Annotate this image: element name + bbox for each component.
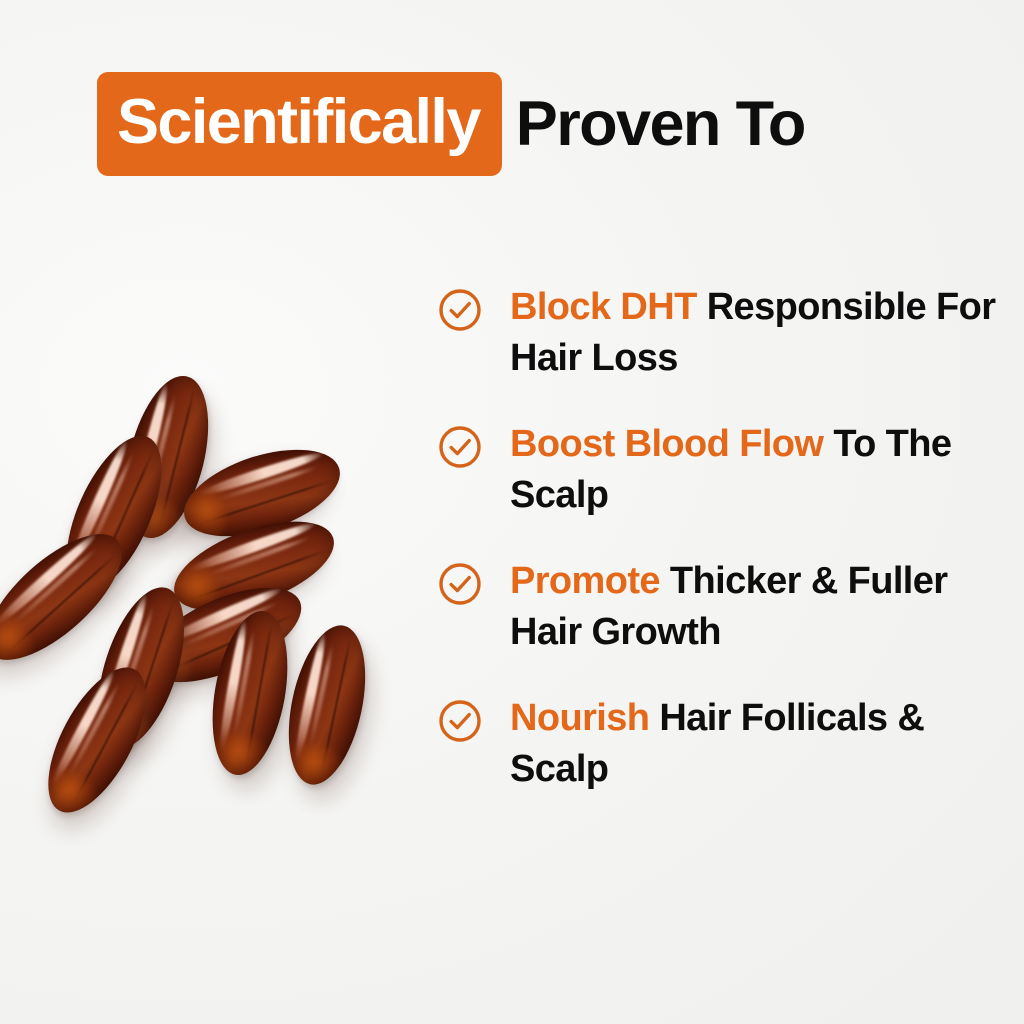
benefit-lead: Nourish [510,697,649,739]
benefit-text: Boost Blood Flow To The Scalp [510,419,1008,520]
headline-highlight-badge: Scientifically [97,72,502,176]
benefit-item-nourish-follicles: Nourish Hair Follicals & Scalp [438,693,1008,794]
check-circle-icon [438,562,482,606]
promo-poster: Scientifically Proven To Block DHT Respo… [0,0,1024,1024]
benefit-item-boost-blood-flow: Boost Blood Flow To The Scalp [438,419,1008,520]
benefit-lead: Boost Blood Flow [510,423,823,465]
headline: Scientifically Proven To [97,72,805,176]
check-circle-icon [438,288,482,332]
headline-highlight-text: Scientifically [117,91,480,154]
benefit-text: Block DHT Responsible For Hair Loss [510,282,1008,383]
benefit-item-block-dht: Block DHT Responsible For Hair Loss [438,282,1008,383]
check-circle-icon [438,425,482,469]
benefit-lead: Promote [510,560,660,602]
benefit-lead: Block DHT [510,286,697,328]
headline-rest-text: Proven To [516,93,805,156]
benefits-list: Block DHT Responsible For Hair Loss Boos… [438,282,1008,794]
check-circle-icon [438,699,482,743]
benefit-text: Nourish Hair Follicals & Scalp [510,693,1008,794]
benefit-item-promote-growth: Promote Thicker & Fuller Hair Growth [438,556,1008,657]
capsule-product-image [0,352,420,772]
capsule [276,618,378,791]
benefit-text: Promote Thicker & Fuller Hair Growth [510,556,1008,657]
